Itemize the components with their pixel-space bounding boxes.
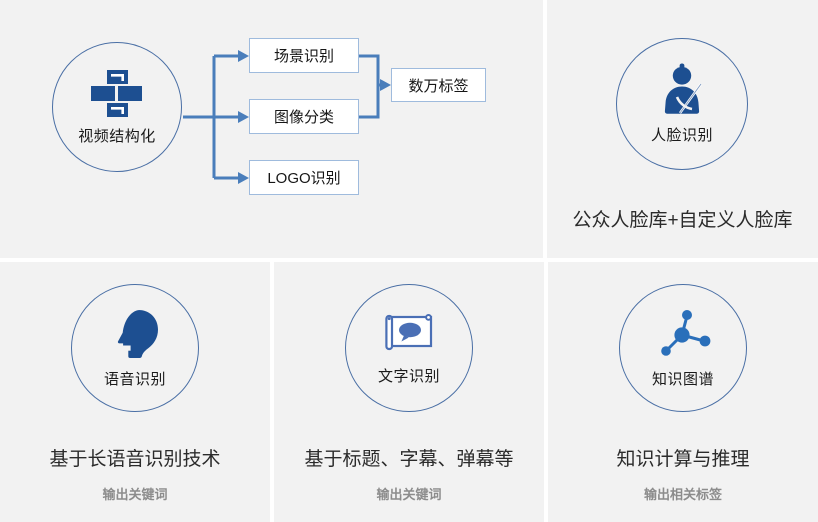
flow-box-scene-recognition[interactable]: 场景识别 [249, 38, 359, 73]
circle-knowledge-graph[interactable]: 知识图谱 [619, 284, 747, 412]
circle-label-knowledge-graph: 知识图谱 [652, 368, 714, 389]
panel-video-structuring: 视频结构化 场景识别 图像分类 LOGO识别 数万标签 [0, 0, 543, 258]
circle-label-face-recognition: 人脸识别 [651, 124, 713, 145]
subcaption-speech-recognition: 输出关键词 [0, 484, 270, 503]
circle-face-recognition[interactable]: 人脸识别 [616, 38, 748, 170]
flow-box-logo-recognition[interactable]: LOGO识别 [249, 160, 359, 195]
face-recognition-icon [656, 63, 708, 119]
text-banner-icon [381, 311, 437, 357]
capability-overview-board: 视频结构化 场景识别 图像分类 LOGO识别 数万标签 人脸识别 公众人脸库+自… [0, 0, 818, 522]
panel-knowledge-graph: 知识图谱 知识计算与推理 输出相关标签 [548, 262, 818, 522]
subcaption-knowledge-graph: 输出相关标签 [548, 484, 818, 503]
caption-knowledge-graph: 知识计算与推理 [548, 444, 818, 471]
circle-video-structuring[interactable]: 视频结构化 [52, 42, 182, 172]
circle-label-video-structuring: 视频结构化 [78, 125, 156, 146]
subcaption-text-recognition: 输出关键词 [274, 484, 544, 503]
circle-text-recognition[interactable]: 文字识别 [345, 284, 473, 412]
knowledge-graph-icon [655, 308, 711, 360]
flow-box-tens-of-thousands-tags[interactable]: 数万标签 [391, 68, 486, 102]
flow-box-image-classification[interactable]: 图像分类 [249, 99, 359, 134]
caption-speech-recognition: 基于长语音识别技术 [0, 444, 270, 471]
circle-label-text-recognition: 文字识别 [378, 365, 440, 386]
panel-text-recognition: 文字识别 基于标题、字幕、弹幕等 输出关键词 [274, 262, 544, 522]
speech-head-icon [109, 308, 161, 360]
panel-face-recognition: 人脸识别 公众人脸库+自定义人脸库 [547, 0, 818, 258]
circle-speech-recognition[interactable]: 语音识别 [71, 284, 199, 412]
caption-text-recognition: 基于标题、字幕、弹幕等 [274, 444, 544, 471]
video-structuring-icon [90, 69, 144, 119]
circle-label-speech-recognition: 语音识别 [104, 368, 166, 389]
panel-speech-recognition: 语音识别 基于长语音识别技术 输出关键词 [0, 262, 270, 522]
caption-face-recognition: 公众人脸库+自定义人脸库 [547, 205, 818, 232]
